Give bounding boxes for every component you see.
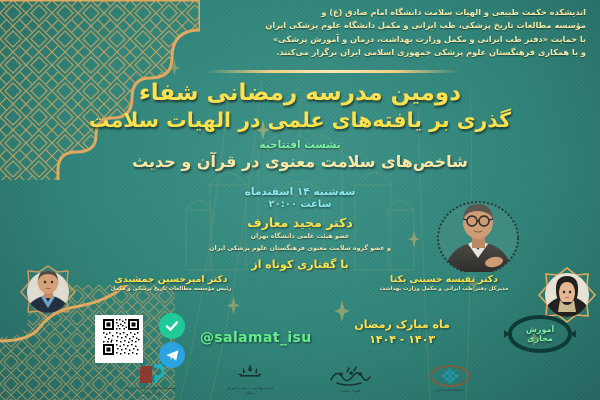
qr-code-icon[interactable]	[95, 315, 143, 363]
short-talk-speaker-2-block: دکتر امیرحسین جمشیدی رئیس مؤسسه مطالعات …	[76, 274, 266, 292]
ramadan-greeting: ماه مبارک رمضان	[354, 318, 450, 331]
logo-caption: مؤسسه مطالعات تاریخ پزشکی، طب ایرانی و م…	[123, 386, 177, 394]
logo-caption: وزارت بهداشت، درمان و آموزش پزشکی	[223, 386, 277, 394]
title-block: دومین مدرسه رمضانی شفاء گذری بر یافته‌ها…	[0, 80, 600, 171]
short-talks-label: با گفتاری کوتاه از	[0, 258, 600, 271]
main-speaker-role-line-1: عضو هیئت علمی دانشگاه تهران	[0, 232, 600, 242]
ramadan-years: ۱۴۰۳ - ۱۴۰۴	[354, 333, 450, 346]
imam-sadiq-university-logo: دانشگاه امام صادق	[423, 363, 477, 395]
organizer-line-4: و با همکاری فرهنگستان علوم پزشکی جمهوری …	[166, 46, 586, 59]
short-talk-speaker-2-portrait	[18, 264, 78, 320]
social-icons-group	[155, 313, 185, 368]
logo-caption: دانشگاه امام صادق	[436, 388, 463, 392]
organizer-line-3: با حمایت «دفتر طب ایرانی و مکمل وزارت به…	[166, 33, 586, 46]
ministry-of-health-logo: وزارت بهداشت، درمان و آموزش پزشکی	[223, 363, 277, 395]
event-poster: اندیشکده حکمت طبیعی و الهیات سلامت دانشگ…	[0, 0, 600, 400]
badge-line-1: آموزش	[526, 325, 554, 334]
main-speaker-block: دکتر مجید معارف عضو هیئت علمی دانشگاه ته…	[0, 215, 600, 254]
short-talk-speaker-1-name: دکتر نفیسه حسینی یکتا	[354, 274, 534, 285]
header-divider	[205, 70, 460, 73]
short-talk-speaker-2-name: دکتر امیرحسین جمشیدی	[76, 274, 266, 285]
virtual-education-badge: آموزش مجازی	[504, 312, 576, 356]
main-speaker-role-line-2: و عضو گروه سلامت معنوی فرهنگستان علوم پز…	[0, 244, 600, 254]
sparkle-icon	[169, 60, 180, 76]
badge-line-2: مجازی	[527, 334, 553, 343]
organizers-header: اندیشکده حکمت طبیعی و الهیات سلامت دانشگ…	[166, 6, 586, 59]
social-handle[interactable]: @salamat_isu	[200, 330, 312, 346]
session-subject: شاخص‌های سلامت معنوی در قرآن و حدیث	[0, 152, 600, 171]
virtual-education-badge-text: آموزش مجازی	[526, 325, 554, 343]
short-talk-speaker-2-role: رئیس مؤسسه مطالعات تاریخ پزشکی و مکمل	[76, 286, 266, 292]
session-label: نشست افتتاحیه	[0, 139, 600, 151]
short-talk-speaker-1-role: مدیرکل دفتر طب ایرانی و مکمل وزارت بهداش…	[354, 286, 534, 292]
poster-title-line-2: گذری بر یافته‌های علمی در الهیات سلامت	[0, 108, 600, 133]
sparkle-icon	[227, 296, 240, 315]
ramadan-block: ماه مبارک رمضان ۱۴۰۳ - ۱۴۰۴	[354, 318, 450, 346]
organizer-line-2: مؤسسه مطالعات تاریخ پزشکی، طب ایرانی و م…	[166, 19, 586, 32]
sparkle-icon	[334, 300, 350, 322]
calligraphy-seal-logo: الهیات سلامت	[323, 363, 377, 395]
bale-check-icon[interactable]	[159, 313, 185, 339]
logo-caption: الهیات سلامت	[340, 389, 360, 393]
main-speaker-name: دکتر مجید معارف	[0, 215, 600, 230]
short-talk-speaker-1-block: دکتر نفیسه حسینی یکتا مدیرکل دفتر طب ایر…	[354, 274, 534, 292]
organizer-line-1: اندیشکده حکمت طبیعی و الهیات سلامت دانشگ…	[166, 6, 586, 19]
footer-logos: دانشگاه امام صادق الهیات سلامت	[0, 362, 600, 396]
medical-history-institute-logo: مؤسسه مطالعات تاریخ پزشکی، طب ایرانی و م…	[123, 363, 177, 395]
poster-title-line-1: دومین مدرسه رمضانی شفاء	[0, 80, 600, 107]
